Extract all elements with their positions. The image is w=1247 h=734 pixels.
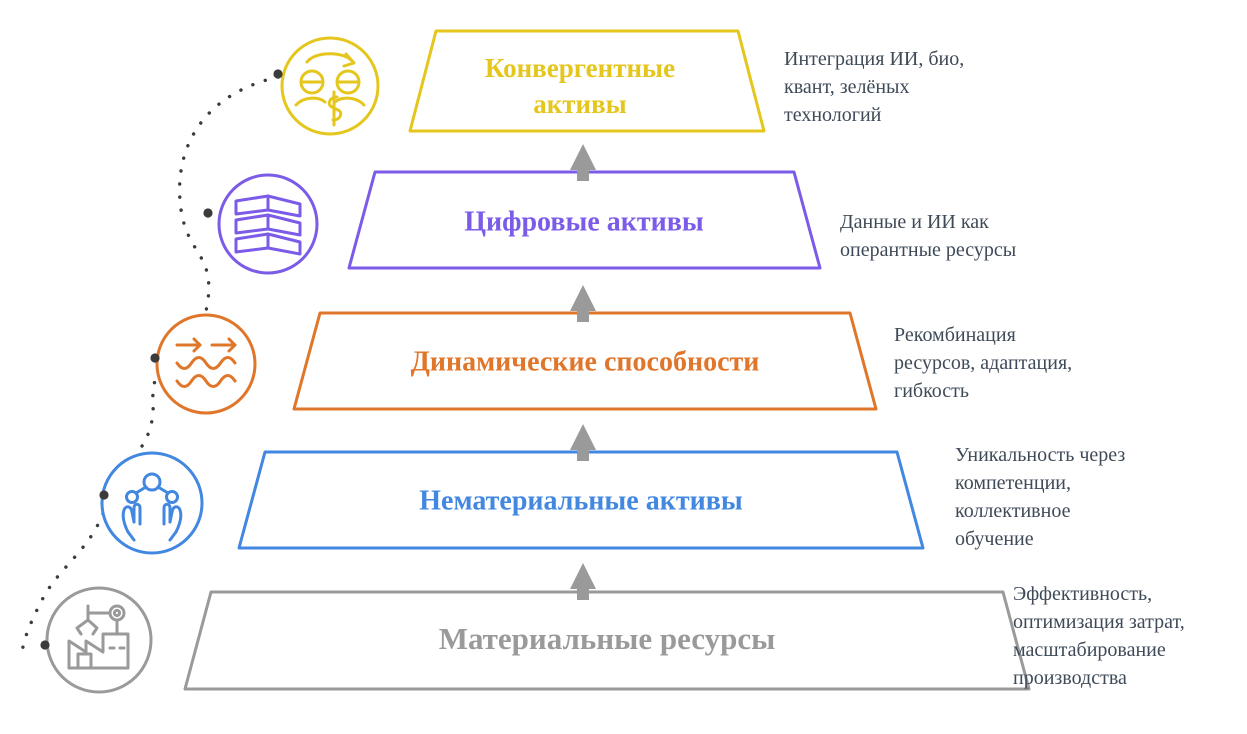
desc-line: обучение — [955, 528, 1034, 550]
desc-line: коллективное — [955, 500, 1071, 522]
level-description-material: Эффективность, оптимизация затрат, масшт… — [1013, 583, 1185, 689]
factory-robot-icon[interactable] — [40, 588, 151, 692]
desc-line: ресурсов, адаптация, — [894, 352, 1072, 374]
data-stack-icon[interactable] — [203, 175, 317, 273]
connector-node-dot — [40, 640, 49, 649]
desc-line: гибкость — [894, 380, 969, 402]
level-title-material: Материальные ресурсы — [439, 621, 776, 656]
level-title-intangible: Нематериальные активы — [419, 485, 743, 516]
desc-line: компетенции, — [955, 472, 1071, 494]
people-exchange-dollar-icon[interactable] — [273, 38, 378, 134]
pyramid-level-intangible[interactable]: Нематериальные активы — [239, 452, 923, 548]
level-title-convergent-line2: активы — [533, 89, 627, 119]
pyramid-level-dynamic[interactable]: Динамические способности — [294, 313, 876, 409]
pyramid-diagram-canvas: Материальные ресурсы Эффективность, опти… — [0, 0, 1247, 734]
connector-node-dot — [203, 208, 212, 217]
level-description-dynamic: Рекомбинация ресурсов, адаптация, гибкос… — [894, 324, 1072, 402]
desc-line: производства — [1013, 667, 1127, 689]
pyramid-level-digital[interactable]: Цифровые активы — [349, 172, 820, 268]
connector-node-dot — [273, 69, 282, 78]
arrows-over-waves-icon[interactable] — [150, 315, 255, 413]
desc-line: оптимизация затрат, — [1013, 611, 1185, 633]
level-description-convergent: Интеграция ИИ, био, квант, зелёных техно… — [784, 48, 964, 126]
desc-line: технологий — [784, 104, 882, 126]
hands-holding-network-icon[interactable] — [99, 453, 202, 553]
desc-line: Эффективность, — [1013, 583, 1152, 605]
level-description-intangible: Уникальность через компетенции, коллекти… — [955, 444, 1125, 550]
connector-node-dot — [99, 490, 108, 499]
connector-node-dot — [150, 353, 159, 362]
desc-line: оперантные ресурсы — [840, 239, 1016, 261]
pyramid-level-material[interactable]: Материальные ресурсы — [185, 592, 1029, 689]
desc-line: масштабирование — [1013, 639, 1166, 661]
level-title-digital: Цифровые активы — [464, 206, 704, 237]
desc-line: Рекомбинация — [894, 324, 1016, 346]
level-title-convergent: Конвергентные — [485, 53, 675, 83]
level-title-dynamic: Динамические способности — [411, 346, 760, 377]
pyramid-diagram: Материальные ресурсы Эффективность, опти… — [0, 0, 1247, 734]
desc-line: Уникальность через — [955, 444, 1125, 466]
desc-line: Интеграция ИИ, био, — [784, 48, 964, 70]
desc-line: квант, зелёных — [784, 76, 910, 98]
level-description-digital: Данные и ИИ как оперантные ресурсы — [840, 211, 1016, 261]
pyramid-level-convergent[interactable]: Конвергентные активы — [410, 31, 764, 131]
desc-line: Данные и ИИ как — [840, 211, 989, 233]
